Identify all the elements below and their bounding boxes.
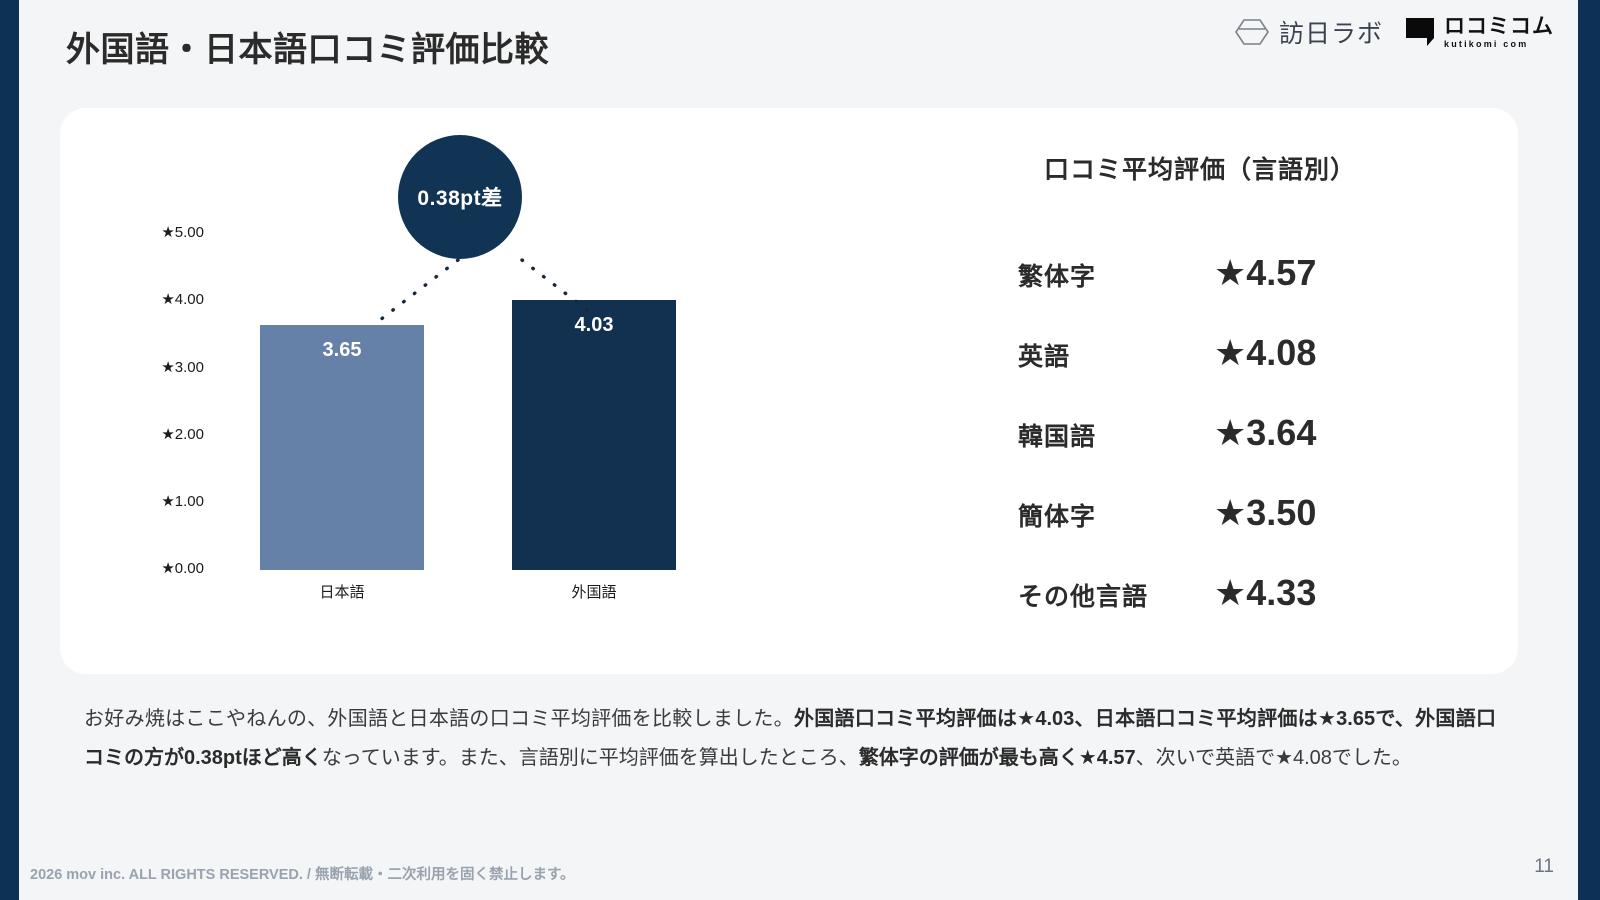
logo-kutikomi: ロコミコム kutikomi com bbox=[1405, 16, 1554, 49]
left-navy-rail bbox=[0, 0, 19, 900]
y-tick-0: ★0.00 bbox=[161, 559, 204, 577]
summary-bold-2: 繁体字の評価が最も高く★4.57 bbox=[859, 747, 1136, 769]
language-row-0: 繁体字 ★4.57 bbox=[1018, 252, 1488, 294]
plot-area: 3.65 日本語 4.03 外国語 bbox=[204, 108, 844, 674]
language-score: ★4.08 bbox=[1214, 332, 1316, 374]
language-score: ★3.50 bbox=[1214, 492, 1316, 534]
summary-part-3: 、次いで英語で★4.08でした。 bbox=[1136, 747, 1412, 769]
content-card: ★5.00 ★4.00 ★3.00 ★2.00 ★1.00 ★0.00 3.65… bbox=[60, 108, 1518, 674]
difference-badge-label: 0.38pt差 bbox=[417, 182, 502, 212]
language-row-4: その他言語 ★4.33 bbox=[1018, 572, 1488, 614]
language-name: 英語 bbox=[1018, 337, 1214, 373]
bar-japanese[interactable]: 3.65 日本語 bbox=[260, 325, 424, 570]
y-tick-5: ★5.00 bbox=[161, 223, 204, 241]
bar-chart: ★5.00 ★4.00 ★3.00 ★2.00 ★1.00 ★0.00 3.65… bbox=[60, 108, 920, 674]
difference-badge: 0.38pt差 bbox=[398, 135, 522, 259]
logo-group: 訪日ラボ ロコミコム kutikomi com bbox=[1235, 14, 1554, 50]
language-name: 繁体字 bbox=[1018, 257, 1214, 293]
logo-kutikomi-sublabel: kutikomi com bbox=[1444, 40, 1554, 49]
y-tick-3: ★3.00 bbox=[161, 358, 204, 376]
language-name: その他言語 bbox=[1018, 577, 1214, 613]
summary-part-2: なっています。また、言語別に平均評価を算出したところ、 bbox=[322, 747, 859, 769]
y-tick-2: ★2.00 bbox=[161, 425, 204, 443]
copyright-note: 2026 mov inc. ALL RIGHTS RESERVED. / 無断転… bbox=[30, 863, 575, 884]
bar-japanese-label: 日本語 bbox=[260, 581, 424, 602]
y-axis: ★5.00 ★4.00 ★3.00 ★2.00 ★1.00 ★0.00 bbox=[118, 108, 204, 674]
language-row-2: 韓国語 ★3.64 bbox=[1018, 412, 1488, 454]
hexagon-icon bbox=[1235, 18, 1269, 46]
bar-japanese-value: 3.65 bbox=[260, 339, 424, 362]
language-score: ★4.33 bbox=[1214, 572, 1316, 614]
language-name: 韓国語 bbox=[1018, 417, 1214, 453]
language-name: 簡体字 bbox=[1018, 497, 1214, 533]
bar-foreign-value: 4.03 bbox=[512, 314, 676, 337]
bar-foreign[interactable]: 4.03 外国語 bbox=[512, 300, 676, 570]
bar-foreign-rect bbox=[512, 300, 676, 570]
summary-paragraph: お好み焼はここやねんの、外国語と日本語の口コミ平均評価を比較しました。外国語口コ… bbox=[84, 700, 1496, 778]
speech-bubble-icon bbox=[1405, 17, 1435, 47]
language-row-1: 英語 ★4.08 bbox=[1018, 332, 1488, 374]
logo-homichi-label: 訪日ラボ bbox=[1279, 14, 1383, 50]
summary-part-1: お好み焼はここやねんの、外国語と日本語の口コミ平均評価を比較しました。 bbox=[84, 708, 794, 730]
language-scores-panel: 口コミ平均評価（言語別） 繁体字 ★4.57 英語 ★4.08 韓国語 ★3.6… bbox=[940, 108, 1518, 674]
logo-homichi-lab: 訪日ラボ bbox=[1235, 14, 1383, 50]
right-navy-rail bbox=[1578, 0, 1600, 900]
language-score: ★3.64 bbox=[1214, 412, 1316, 454]
language-row-3: 簡体字 ★3.50 bbox=[1018, 492, 1488, 534]
bar-foreign-label: 外国語 bbox=[512, 581, 676, 602]
y-tick-4: ★4.00 bbox=[161, 290, 204, 308]
y-tick-1: ★1.00 bbox=[161, 492, 204, 510]
language-scores-title: 口コミ平均評価（言語別） bbox=[940, 150, 1460, 186]
slide-root: 外国語・日本語口コミ評価比較 訪日ラボ ロコミコム kutikomi com bbox=[0, 0, 1600, 900]
page-number: 11 bbox=[1534, 856, 1554, 878]
language-score: ★4.57 bbox=[1214, 252, 1316, 294]
page-title: 外国語・日本語口コミ評価比較 bbox=[66, 22, 549, 71]
logo-kutikomi-label: ロコミコム bbox=[1444, 16, 1554, 37]
